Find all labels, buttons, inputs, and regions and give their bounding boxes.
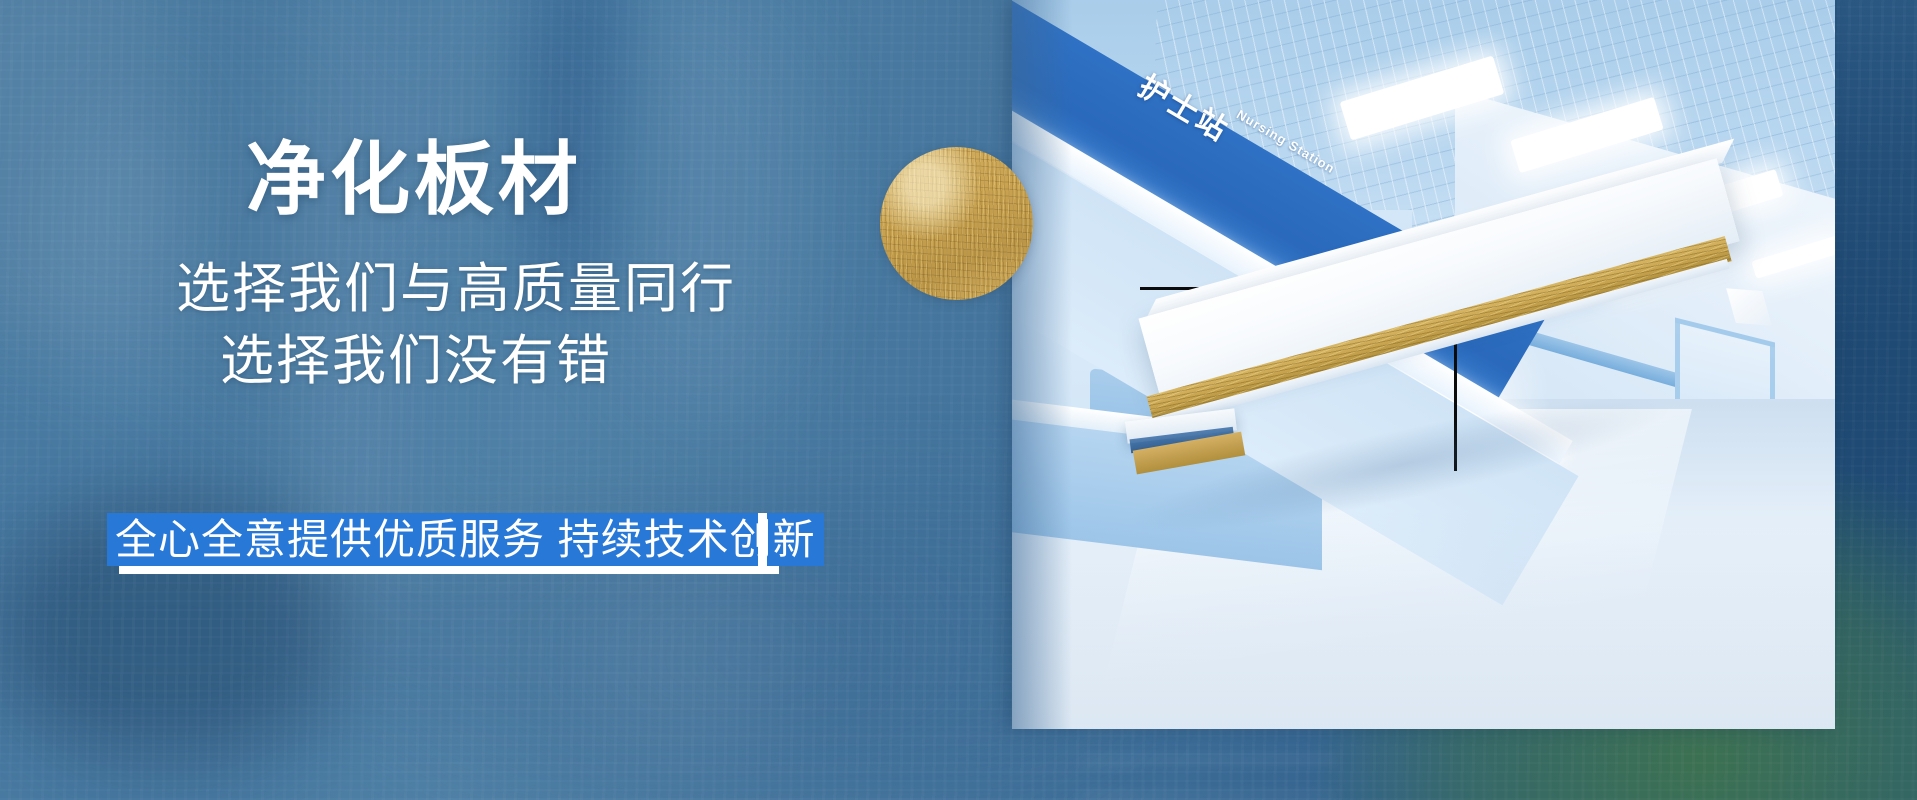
rockwool-sandwich-panel: [1120, 265, 1750, 515]
subheadline-line-2: 选择我们没有错: [220, 334, 612, 388]
headline-block: 净化板材 选择我们与高质量同行 选择我们没有错 全心全意提供优质服务 持续技术创…: [0, 0, 820, 800]
promo-banner: 净化板材 选择我们与高质量同行 选择我们没有错 全心全意提供优质服务 持续技术创…: [0, 0, 1917, 800]
rockwool-closeup-circle: [880, 147, 1033, 300]
ribbon-end-tick: [758, 513, 767, 566]
subheadline-line-1: 选择我们与高质量同行: [176, 262, 736, 316]
page-title: 净化板材: [246, 140, 582, 220]
slogan-ribbon: 全心全意提供优质服务 持续技术创新: [107, 513, 787, 585]
slogan-text: 全心全意提供优质服务 持续技术创新: [107, 513, 824, 566]
